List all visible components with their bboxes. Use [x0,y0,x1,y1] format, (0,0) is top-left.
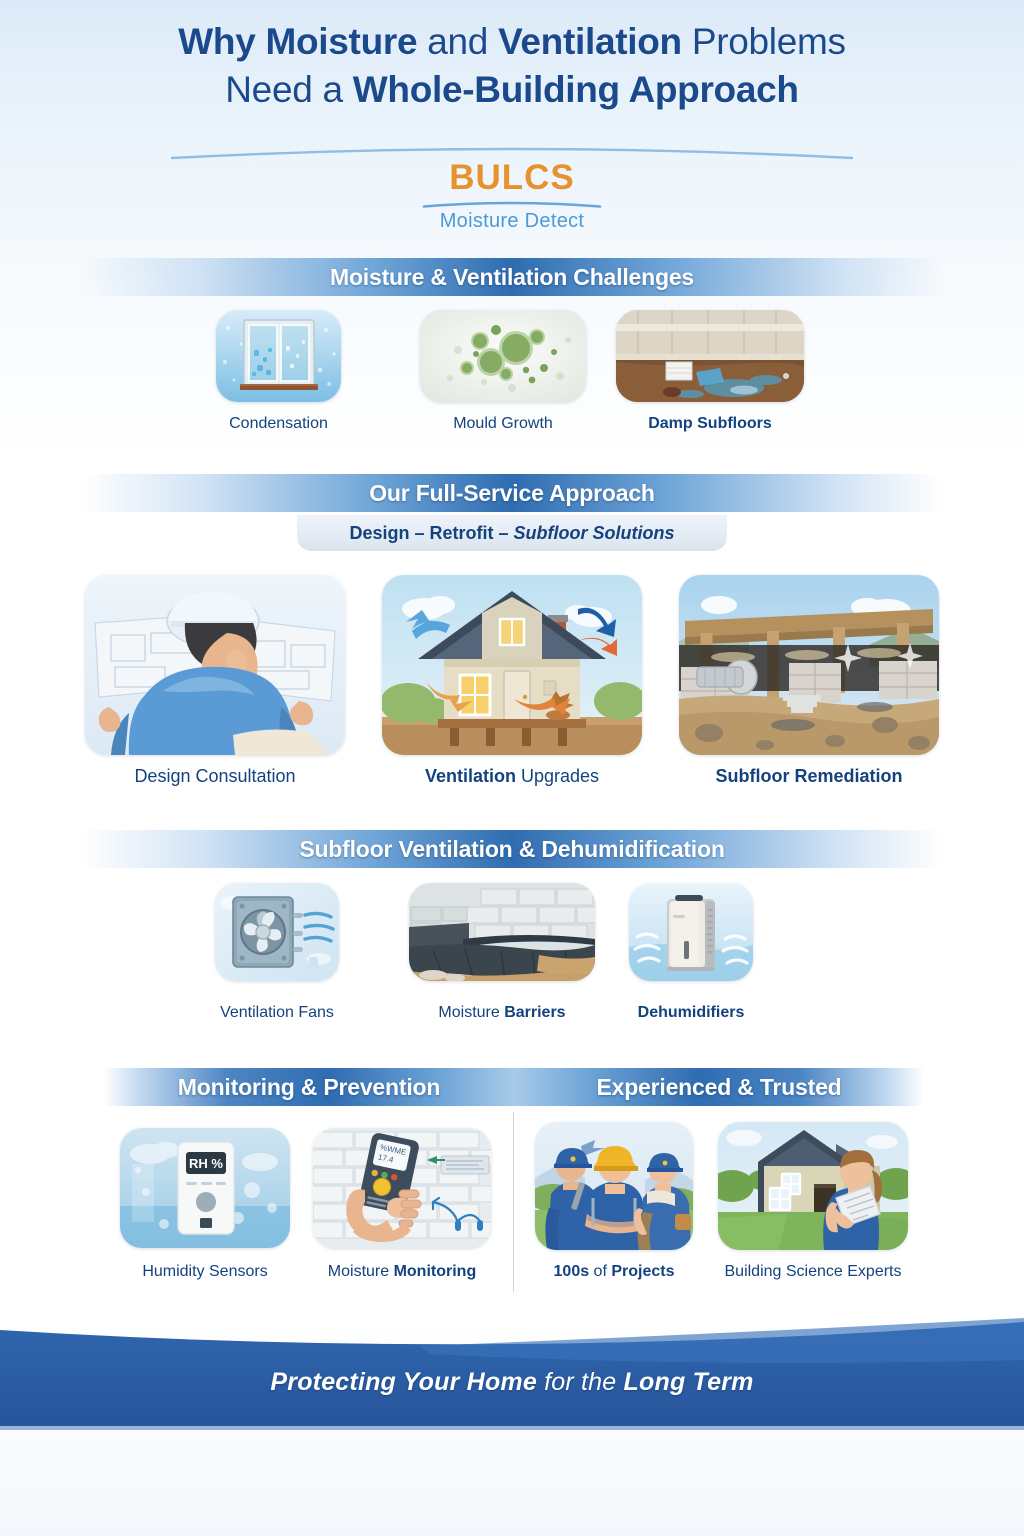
caption-moisture-barriers: Moisture Barriers [399,1003,605,1023]
mould-growth-image [420,310,586,402]
construction-team-image [535,1122,693,1250]
moisture-meter-image: %WME 17.4 [313,1128,491,1248]
section-banner-label: Experienced & Trusted [596,1074,841,1101]
approach-subtitle-bar: Design – Retrofit – Subfloor Solutions [297,515,727,551]
tile-moisture-barriers[interactable] [409,883,595,981]
section-banner-challenges: Moisture & Ventilation Challenges [82,258,942,296]
sensor-display-value: RH % [189,1156,223,1171]
caption-projects: 100s of Projects [525,1262,703,1282]
caption-dehumidifiers: Dehumidifiers [629,1003,753,1023]
tile-humidity-sensors[interactable]: RH % [120,1128,290,1248]
subfloor-remediation-image [679,575,939,755]
damp-subfloor-image [616,310,804,402]
dehumidifier-image [629,883,753,981]
title-line-2: Need a Whole-Building Approach [0,66,1024,114]
tile-subfloor-remediation[interactable] [679,575,939,755]
caption-building-science-experts: Building Science Experts [708,1262,918,1282]
footer-tagline: Protecting Your Home for the Long Term [0,1368,1024,1397]
page-title: Why Moisture and Ventilation Problems Ne… [0,18,1024,114]
tile-mould-growth[interactable] [420,310,586,402]
brand-logo: BULCS Moisture Detect [0,158,1024,234]
ventilation-fan-image [215,883,339,981]
tile-design-consultation[interactable] [85,575,345,755]
caption-design-consultation: Design Consultation [85,765,345,787]
tile-damp-subfloors[interactable] [616,310,804,402]
tile-ventilation-fans[interactable] [215,883,339,981]
caption-subfloor-remediation: Subfloor Remediation [679,765,939,787]
condensation-window-image [216,310,341,402]
approach-subtitle-text: Design – Retrofit – Subfloor Solutions [349,523,674,544]
tile-projects[interactable] [535,1122,693,1250]
caption-ventilation-upgrades: Ventilation Upgrades [382,765,642,787]
logo-name: BULCS [0,158,1024,198]
design-consultation-image [85,575,345,755]
logo-swoosh-icon [422,199,602,208]
moisture-barrier-image [409,883,595,981]
tile-condensation[interactable] [216,310,341,402]
section-banner-subfloor: Subfloor Ventilation & Dehumidification [82,830,942,868]
section-banner-trusted: Experienced & Trusted [514,1068,924,1106]
section-banner-monitoring: Monitoring & Prevention [104,1068,514,1106]
tile-dehumidifiers[interactable] [629,883,753,981]
section-banner-approach: Our Full-Service Approach [82,474,942,512]
building-science-expert-image [718,1122,908,1250]
caption-mould-growth: Mould Growth [410,414,596,434]
caption-condensation: Condensation [216,414,341,434]
section-banner-label: Moisture & Ventilation Challenges [330,264,694,291]
ventilation-upgrades-house-image [382,575,642,755]
section-banner-label: Subfloor Ventilation & Dehumidification [299,836,724,863]
caption-humidity-sensors: Humidity Sensors [110,1262,300,1282]
infographic-poster: Why Moisture and Ventilation Problems Ne… [0,0,1024,1536]
section-banner-label: Our Full-Service Approach [369,480,655,507]
caption-moisture-monitoring: Moisture Monitoring [303,1262,501,1282]
logo-tagline: Moisture Detect [0,208,1024,234]
panel-divider [513,1112,514,1292]
humidity-sensor-image: RH % [120,1128,290,1248]
title-line-1: Why Moisture and Ventilation Problems [0,18,1024,66]
caption-ventilation-fans: Ventilation Fans [215,1003,339,1023]
section-banner-label: Monitoring & Prevention [178,1074,440,1101]
tile-moisture-monitoring[interactable]: %WME 17.4 [313,1128,491,1248]
tile-building-science-experts[interactable] [718,1122,908,1250]
caption-damp-subfloors: Damp Subfloors [616,414,804,434]
tile-ventilation-upgrades[interactable] [382,575,642,755]
